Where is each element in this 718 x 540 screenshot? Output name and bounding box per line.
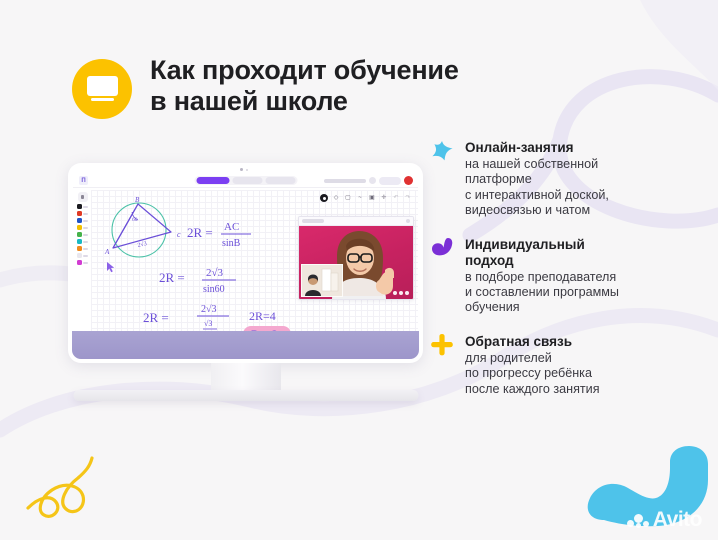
line-tool[interactable]: ~	[356, 194, 364, 202]
swatch-row	[77, 260, 89, 265]
feature-item-feedback: Обратная связь для родителей по прогресс…	[430, 334, 695, 397]
corner-wedge	[640, 0, 718, 90]
video-close-icon[interactable]	[406, 219, 410, 223]
result-2r: 2R=4	[249, 309, 276, 323]
app-tab-group[interactable]	[194, 176, 297, 185]
formula-3-num: 2√3	[201, 304, 217, 315]
formula-3-den-num: √3	[204, 319, 212, 328]
monitor-icon	[72, 59, 132, 119]
swatch-row	[77, 211, 89, 216]
tab-idle-1[interactable]	[232, 177, 262, 184]
cursor-icon	[107, 262, 114, 272]
page-title: Как проходит обучение в нашей школе	[150, 55, 459, 117]
eraser-tool[interactable]: ◇	[332, 194, 340, 202]
formula-1-den: sinB	[222, 238, 241, 249]
formula-1-lhs: 2R =	[187, 225, 213, 240]
video-panel-header[interactable]	[299, 217, 413, 226]
color-swatch-grey[interactable]	[77, 253, 82, 258]
label-angle: 60	[132, 217, 138, 223]
swatch-row	[77, 232, 89, 237]
formula-3-lhs: 2R =	[143, 310, 169, 325]
video-call-panel[interactable]	[298, 216, 414, 300]
app-logo[interactable]: П	[79, 176, 88, 185]
feature-item-online: Онлайн-занятия на нашей собственной плат…	[430, 140, 695, 219]
board-toolbar[interactable]: ◇ ▢ ~ ▣ ✛ ↶ ↷	[320, 194, 412, 202]
color-swatch-green[interactable]	[77, 232, 82, 237]
formula-2-num: 2√3	[206, 267, 224, 279]
shape-tool[interactable]: ▢	[344, 194, 352, 202]
formula-2-lhs: 2R =	[159, 270, 185, 285]
swatch-row	[77, 204, 89, 209]
participants-label	[324, 179, 366, 183]
student-pip[interactable]	[301, 264, 343, 297]
feature-title: Обратная связь	[465, 334, 695, 350]
color-swatch-teal[interactable]	[77, 239, 82, 244]
feature-list: Онлайн-занятия на нашей собственной плат…	[430, 140, 695, 415]
webcam-dot	[240, 168, 252, 171]
settings-icon[interactable]	[369, 177, 376, 184]
swatch-row	[77, 225, 89, 230]
monitor-stand-base	[73, 390, 418, 401]
color-swatch-magenta[interactable]	[77, 260, 82, 265]
tool-rail[interactable]	[76, 192, 89, 265]
feature-desc: в подборе преподавателя и составлении пр…	[465, 270, 695, 316]
monitor-stand-neck	[211, 363, 281, 391]
avito-wordmark: Avito	[653, 509, 702, 530]
monitor-chin	[72, 331, 419, 359]
label-C: c	[177, 230, 181, 239]
feature-desc: на нашей собственной платформе с интерак…	[465, 157, 695, 219]
color-swatch-yellow[interactable]	[77, 225, 82, 230]
color-swatch-blue[interactable]	[77, 218, 82, 223]
formula-1-num: AC	[224, 221, 239, 233]
label-A: A	[104, 248, 110, 256]
yellow-squiggle	[28, 458, 92, 516]
add-tool[interactable]: ✛	[380, 194, 388, 202]
tab-active[interactable]	[196, 177, 229, 184]
lock-icon[interactable]	[78, 192, 88, 202]
color-swatch-orange[interactable]	[77, 246, 82, 251]
star-icon	[430, 140, 454, 168]
pen-tool[interactable]	[320, 194, 328, 202]
hangup-button[interactable]	[404, 176, 413, 185]
swatch-row	[77, 218, 89, 223]
geometry-figure	[112, 203, 171, 257]
monitor-screen: П	[68, 163, 423, 363]
avito-watermark: Avito	[627, 509, 702, 530]
feature-title: Онлайн-занятия	[465, 140, 695, 156]
swatch-row	[77, 253, 89, 258]
video-title	[302, 219, 324, 223]
color-swatch-red[interactable]	[77, 211, 82, 216]
feature-item-individual: Индивидуальный подход в подборе преподав…	[430, 237, 695, 316]
feature-desc: для родителей по прогрессу ребёнка после…	[465, 351, 695, 397]
swatch-row	[77, 246, 89, 251]
swatch-row	[77, 239, 89, 244]
monitor-mockup: П	[68, 163, 423, 363]
avito-logo-icon	[627, 512, 649, 528]
plus-icon	[430, 334, 454, 362]
camera-chip[interactable]	[379, 177, 401, 185]
undo-tool[interactable]: ↶	[392, 194, 400, 202]
crescent-icon	[430, 237, 454, 265]
redo-tool[interactable]: ↷	[404, 194, 412, 202]
page-header: Как проходит обучение в нашей школе	[72, 55, 459, 119]
app-toolbar: П	[73, 174, 418, 188]
video-stage	[299, 226, 413, 299]
label-B: B	[135, 196, 140, 204]
color-swatch-black[interactable]	[77, 204, 82, 209]
note-tool[interactable]: ▣	[368, 194, 376, 202]
tab-idle-2[interactable]	[265, 177, 295, 184]
app-right-controls[interactable]	[324, 176, 413, 185]
video-more-icon[interactable]	[393, 291, 409, 295]
formula-2-den: sin60	[203, 284, 225, 295]
feature-title: Индивидуальный подход	[465, 237, 695, 269]
